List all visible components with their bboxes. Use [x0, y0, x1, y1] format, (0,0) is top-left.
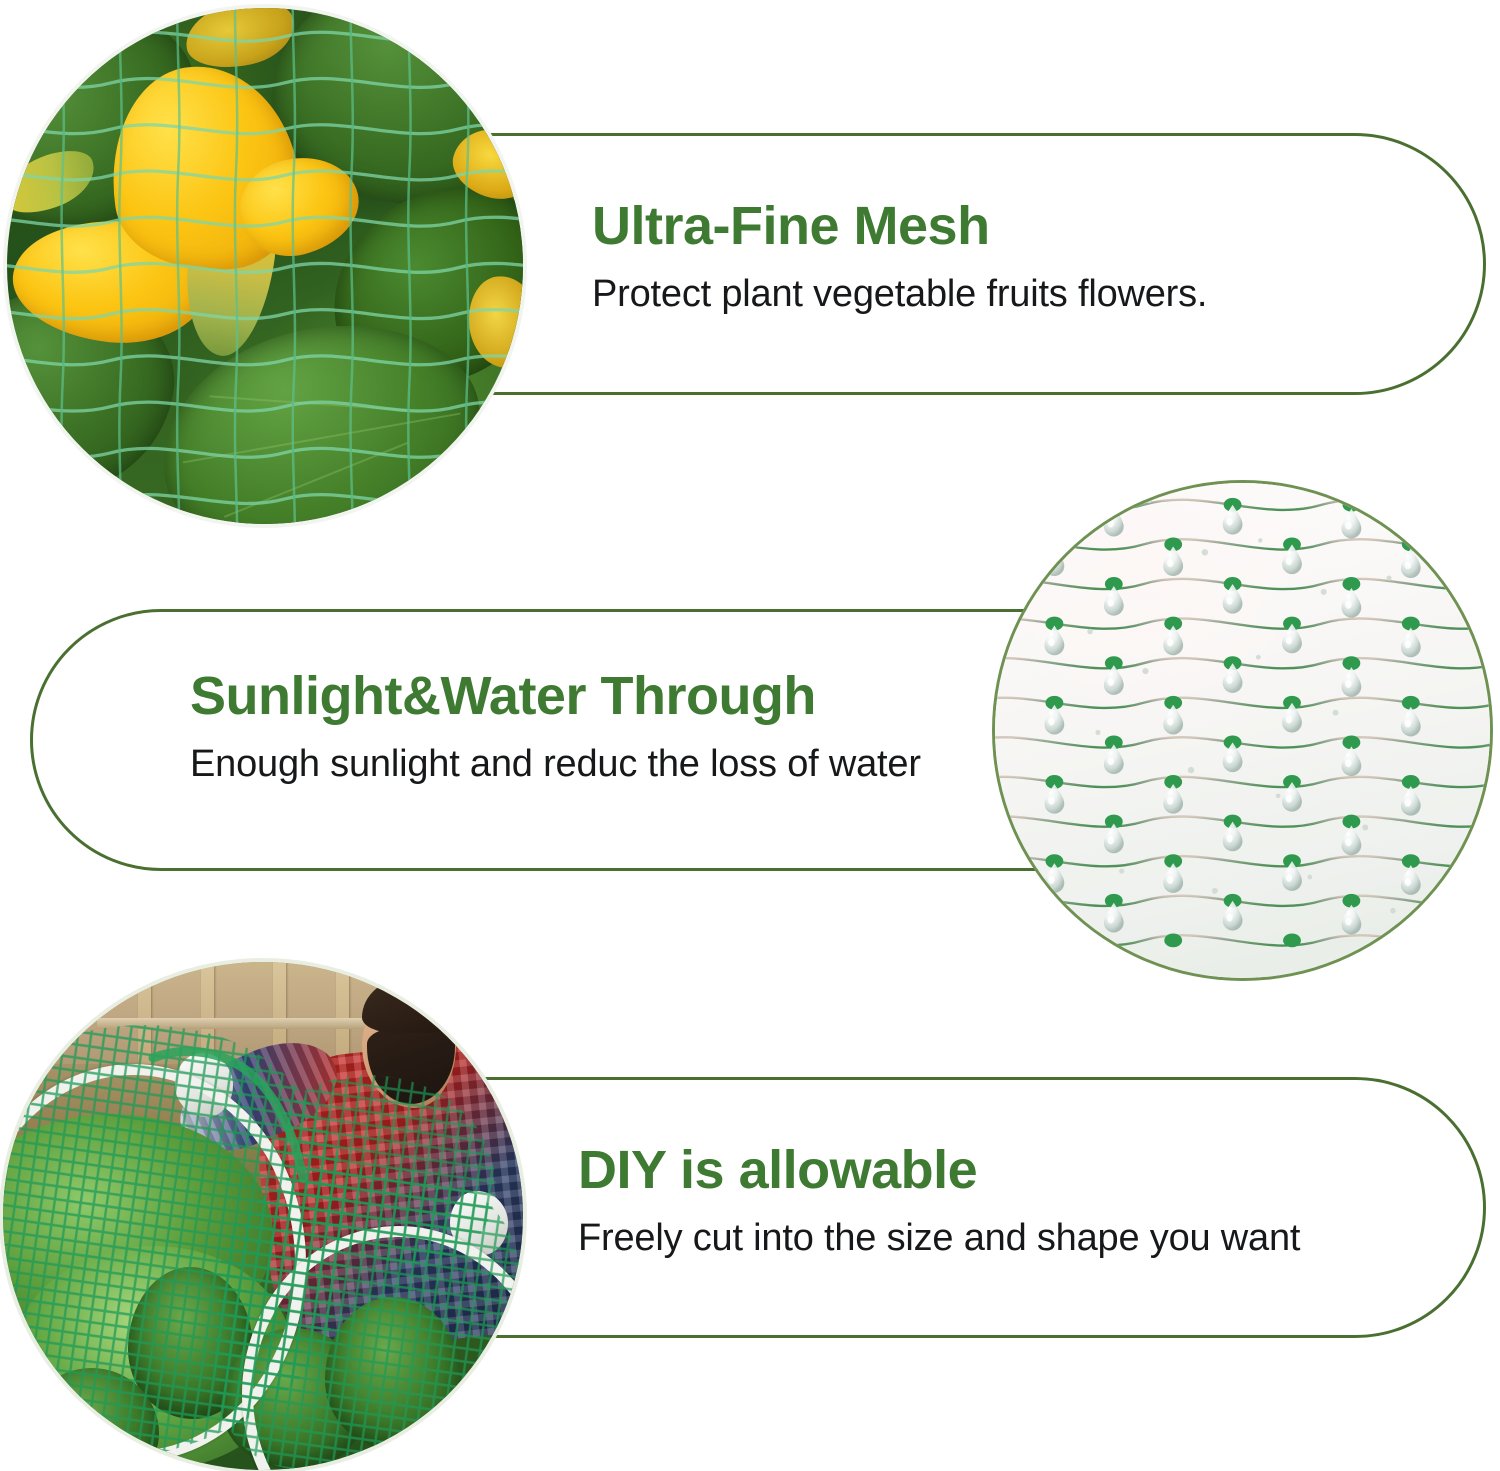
feature-text-3: DIY is allowable Freely cut into the siz… [578, 1142, 1300, 1260]
feature-subtitle: Freely cut into the size and shape you w… [578, 1217, 1300, 1261]
mesh-netting-overlay [7, 8, 523, 524]
feature-text-1: Ultra-Fine Mesh Protect plant vegetable … [592, 198, 1207, 316]
feature-text-2: Sunlight&Water Through Enough sunlight a… [190, 668, 921, 786]
product-feature-infographic: Ultra-Fine Mesh Protect plant vegetable … [0, 0, 1500, 1471]
mesh-netting-with-droplets [995, 483, 1490, 978]
feature-title: Sunlight&Water Through [190, 668, 921, 725]
mesh-netting-overlay [3, 962, 523, 1470]
feature-title: Ultra-Fine Mesh [592, 198, 1207, 255]
feature-image-3 [3, 962, 523, 1470]
feature-subtitle: Enough sunlight and reduc the loss of wa… [190, 743, 921, 787]
feature-title: DIY is allowable [578, 1142, 1300, 1199]
feature-image-1 [7, 8, 523, 524]
feature-subtitle: Protect plant vegetable fruits flowers. [592, 273, 1207, 317]
feature-image-2 [995, 483, 1490, 978]
